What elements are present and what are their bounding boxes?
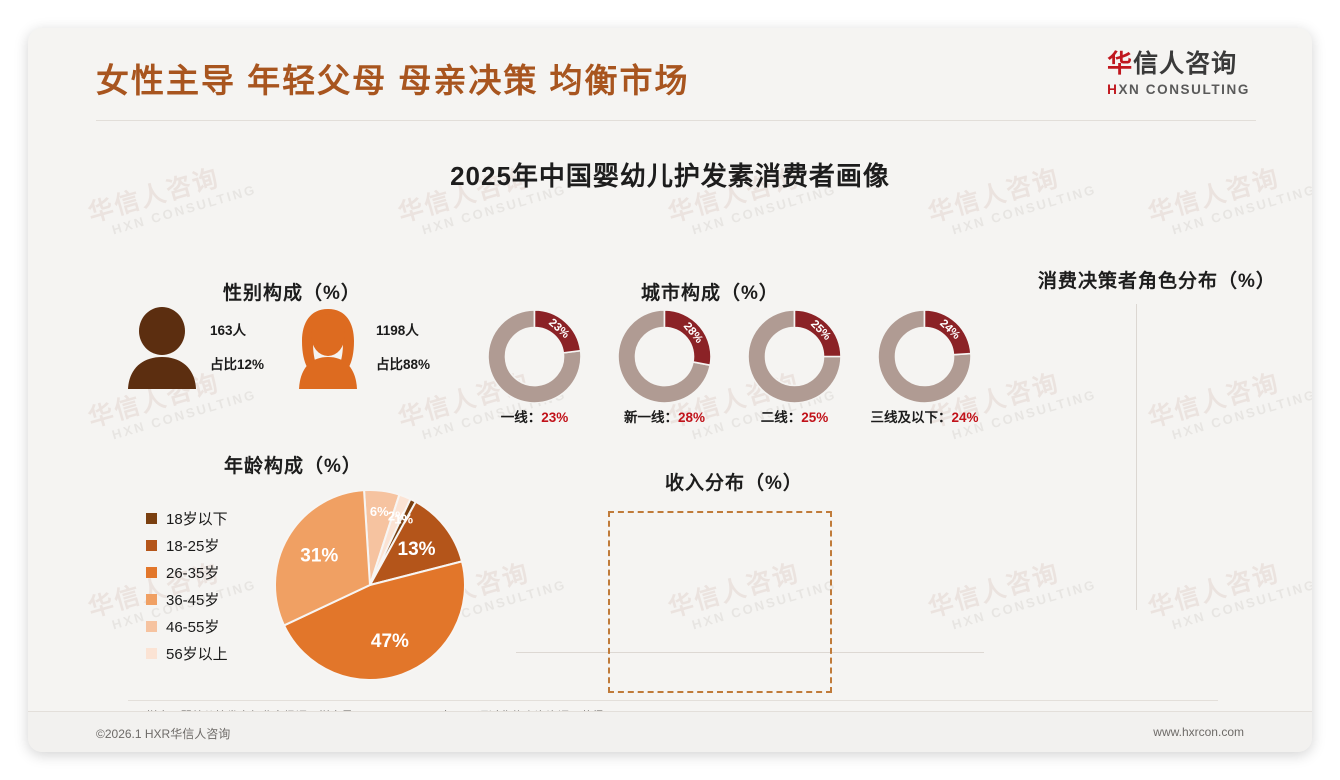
header-divider: [96, 120, 1256, 121]
legend-swatch-icon: [146, 567, 157, 578]
income-bar-chart: [498, 496, 998, 691]
note-divider: [128, 700, 1218, 701]
page-title: 女性主导 年轻父母 母亲决策 均衡市场: [96, 54, 690, 102]
logo-cn-rest: 信人咨询: [1133, 50, 1237, 78]
donut-graphic: 25%: [748, 310, 841, 403]
legend-swatch-icon: [146, 621, 157, 632]
legend-swatch-icon: [146, 648, 157, 659]
age-legend-item-5: 46-55岁: [146, 613, 228, 640]
footer-website: www.hxrcon.com: [1153, 725, 1244, 739]
male-silhouette-icon: [126, 307, 198, 389]
header: 女性主导 年轻父母 母亲决策 均衡市场 华信人咨询 HXN CONSULTING: [28, 28, 1312, 120]
female-share: 占比88%: [376, 353, 430, 373]
footer-copyright: ©2026.1 HXR华信人咨询: [96, 725, 230, 742]
decision-section-title: 消费决策者角色分布（%）: [1038, 266, 1276, 293]
donut-caption-2: 新一线：28%: [624, 406, 705, 426]
logo-cn-first: 华: [1107, 50, 1133, 78]
age-legend-label: 46-55岁: [166, 616, 219, 637]
age-legend-item-4: 36-45岁: [146, 586, 228, 613]
age-pie-svg: 6%2%1%13%47%31%: [275, 490, 465, 680]
legend-swatch-icon: [146, 513, 157, 524]
decision-bar-chart: [1028, 296, 1298, 626]
age-legend-label: 18-25岁: [166, 535, 219, 556]
logo-en-first: H: [1107, 82, 1118, 97]
age-legend-item-3: 26-35岁: [146, 559, 228, 586]
city-donut-3: 25%二线：25%: [748, 310, 841, 403]
brand-logo: 华信人咨询 HXN CONSULTING: [1107, 50, 1250, 97]
donut-caption-3: 二线：25%: [761, 406, 829, 426]
infographic-card: 华信人咨询HXN CONSULTING华信人咨询HXN CONSULTING华信…: [28, 28, 1312, 752]
female-count: 1198人: [376, 319, 419, 339]
city-section-title: 城市构成（%）: [641, 278, 779, 305]
age-legend-item-1: 18岁以下: [146, 505, 228, 532]
logo-chinese: 华信人咨询: [1107, 50, 1250, 79]
legend-swatch-icon: [146, 594, 157, 605]
donut-caption-1: 一线：23%: [501, 406, 569, 426]
legend-swatch-icon: [146, 540, 157, 551]
donut-caption-4: 三线及以下：24%: [870, 406, 978, 426]
income-highlight-box: [608, 511, 832, 693]
male-count: 163人: [210, 319, 246, 339]
age-legend-item-2: 18-25岁: [146, 532, 228, 559]
age-legend-label: 56岁以上: [166, 643, 228, 664]
svg-text:6%: 6%: [370, 504, 389, 519]
age-pie-legend: 18岁以下18-25岁26-35岁36-45岁46-55岁56岁以上: [146, 505, 228, 667]
donut-graphic: 23%: [488, 310, 581, 403]
gender-composition: 163人 占比12% 1198人 占比88%: [100, 283, 450, 398]
age-legend-label: 18岁以下: [166, 508, 228, 529]
female-silhouette-icon: [288, 307, 368, 389]
age-pie-chart: 6%2%1%13%47%31%: [275, 490, 465, 680]
age-section-title: 年龄构成（%）: [224, 451, 362, 478]
city-donut-2: 28%新一线：28%: [618, 310, 711, 403]
age-legend-label: 26-35岁: [166, 562, 219, 583]
age-legend-item-6: 56岁以上: [146, 640, 228, 667]
svg-text:1%: 1%: [394, 511, 413, 526]
decision-axis: [1136, 304, 1137, 610]
male-share: 占比12%: [210, 353, 264, 373]
income-section-title: 收入分布（%）: [665, 468, 803, 495]
footer-bar: ©2026.1 HXR华信人咨询 www.hxrcon.com: [28, 711, 1312, 752]
city-donut-4: 24%三线及以下：24%: [878, 310, 971, 403]
logo-english: HXN CONSULTING: [1107, 82, 1250, 97]
city-donut-1: 23%一线：23%: [488, 310, 581, 403]
svg-text:31%: 31%: [300, 545, 338, 566]
age-legend-label: 36-45岁: [166, 589, 219, 610]
donut-graphic: 28%: [618, 310, 711, 403]
svg-text:47%: 47%: [371, 631, 409, 652]
donut-graphic: 24%: [878, 310, 971, 403]
svg-text:13%: 13%: [398, 539, 436, 560]
chart-subtitle: 2025年中国婴幼儿护发素消费者画像: [28, 156, 1312, 193]
logo-en-rest: XN CONSULTING: [1118, 82, 1250, 97]
